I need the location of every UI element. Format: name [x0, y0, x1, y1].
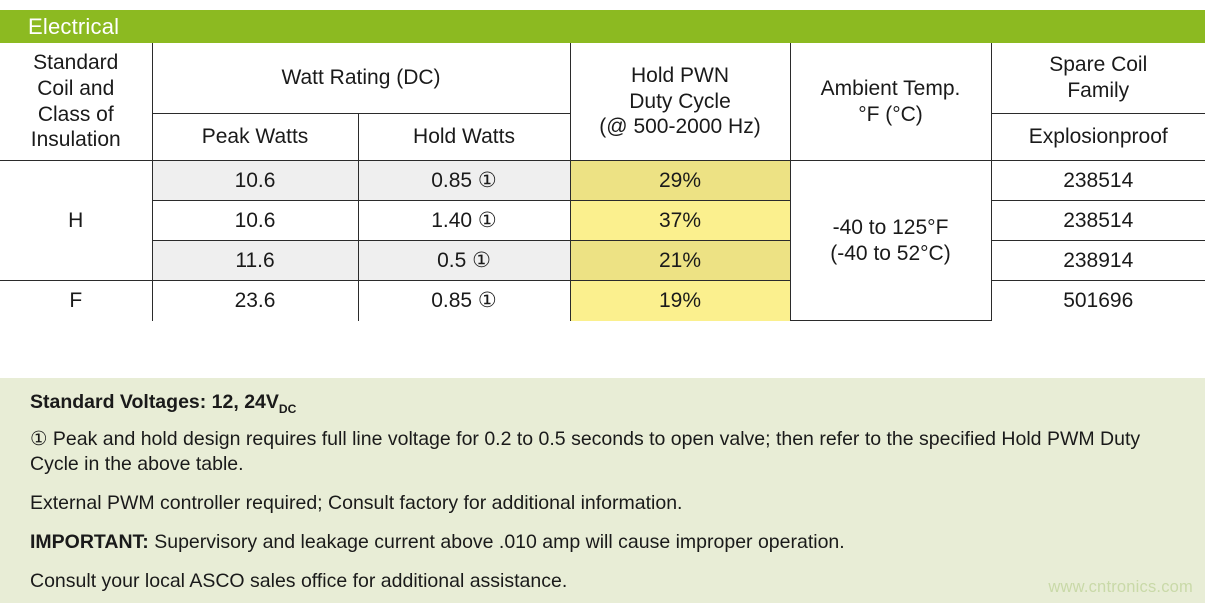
header-explosionproof: Explosionproof [991, 114, 1205, 161]
note-peak-and-hold: ① Peak and hold design requires full lin… [30, 427, 1175, 478]
cell-hold-watts: 0.85 ① [358, 281, 570, 321]
cell-hold-watts: 0.5 ① [358, 241, 570, 281]
note-external-pwm-controller: External PWM controller required; Consul… [30, 491, 1175, 517]
cell-peak-watts: 10.6 [152, 161, 358, 201]
cell-spare-coil-family: 238514 [991, 201, 1205, 241]
cell-spare-coil-family: 238914 [991, 241, 1205, 281]
header-ambient-temp-line-2: °F (°C) [795, 102, 987, 128]
cell-spare-coil-family: 238514 [991, 161, 1205, 201]
ambient-temp-fahrenheit: -40 to 125°F [795, 215, 987, 241]
electrical-specs-table: Standard Coil and Class of Insulation Wa… [0, 43, 1205, 321]
important-text: Supervisory and leakage current above .0… [149, 531, 845, 553]
header-peak-watts: Peak Watts [152, 114, 358, 161]
header-ambient-temp: Ambient Temp. °F (°C) [790, 43, 991, 161]
cell-spare-coil-family: 501696 [991, 281, 1205, 321]
header-hold-pwm-duty-cycle: Hold PWN Duty Cycle (@ 500-2000 Hz) [570, 43, 790, 161]
cell-coil-class-h: H [0, 161, 152, 281]
header-hold-pwm-line-2: Duty Cycle [575, 89, 786, 115]
standard-voltages-label: Standard Voltages: 12, 24V [30, 391, 279, 413]
cell-duty-cycle: 19% [570, 281, 790, 321]
cell-coil-class-f: F [0, 281, 152, 321]
header-watt-rating-group: Watt Rating (DC) [152, 43, 570, 114]
cell-duty-cycle: 29% [570, 161, 790, 201]
header-spare-coil-family: Spare Coil Family [991, 43, 1205, 114]
electrical-spec-sheet: Electrical Standard Coil and Class of In… [0, 0, 1205, 611]
header-stub-line-1: Standard [4, 50, 148, 76]
header-hold-pwm-line-1: Hold PWN [575, 63, 786, 89]
header-row-top: Standard Coil and Class of Insulation Wa… [0, 43, 1205, 114]
cell-hold-watts: 1.40 ① [358, 201, 570, 241]
table-row: 10.6 1.40 ① 37% 238514 [0, 201, 1205, 241]
cell-duty-cycle: 21% [570, 241, 790, 281]
table-row: H 10.6 0.85 ① 29% -40 to 125°F (-40 to 5… [0, 161, 1205, 201]
section-title: Electrical [28, 14, 119, 40]
cell-peak-watts: 10.6 [152, 201, 358, 241]
cell-duty-cycle: 37% [570, 201, 790, 241]
header-ambient-temp-line-1: Ambient Temp. [795, 76, 987, 102]
header-stub-class-of-insulation: Standard Coil and Class of Insulation [0, 43, 152, 161]
header-hold-pwm-line-3: (@ 500-2000 Hz) [575, 114, 786, 140]
section-banner: Electrical [0, 10, 1205, 43]
header-hold-watts: Hold Watts [358, 114, 570, 161]
site-watermark: www.cntronics.com [1048, 578, 1193, 597]
important-label: IMPORTANT: [30, 531, 149, 553]
note-consult-asco: Consult your local ASCO sales office for… [30, 569, 1175, 595]
cell-hold-watts: 0.85 ① [358, 161, 570, 201]
table-row: 11.6 0.5 ① 21% 238914 [0, 241, 1205, 281]
ambient-temp-celsius: (-40 to 52°C) [795, 241, 987, 267]
header-stub-line-2: Coil and [4, 76, 148, 102]
header-spare-coil-line-1: Spare Coil [996, 52, 1202, 78]
cell-peak-watts: 23.6 [152, 281, 358, 321]
header-spare-coil-line-2: Family [996, 78, 1202, 104]
cell-peak-watts: 11.6 [152, 241, 358, 281]
note-standard-voltages: Standard Voltages: 12, 24VDC [30, 390, 1175, 416]
header-stub-line-4: Insulation [4, 127, 148, 153]
standard-voltages-subscript: DC [279, 402, 296, 416]
cell-ambient-temp-value: -40 to 125°F (-40 to 52°C) [790, 161, 991, 321]
table-row: F 23.6 0.85 ① 19% 501696 [0, 281, 1205, 321]
note-important: IMPORTANT: Supervisory and leakage curre… [30, 530, 1175, 556]
header-stub-line-3: Class of [4, 102, 148, 128]
notes-panel: Standard Voltages: 12, 24VDC ① Peak and … [0, 378, 1205, 603]
